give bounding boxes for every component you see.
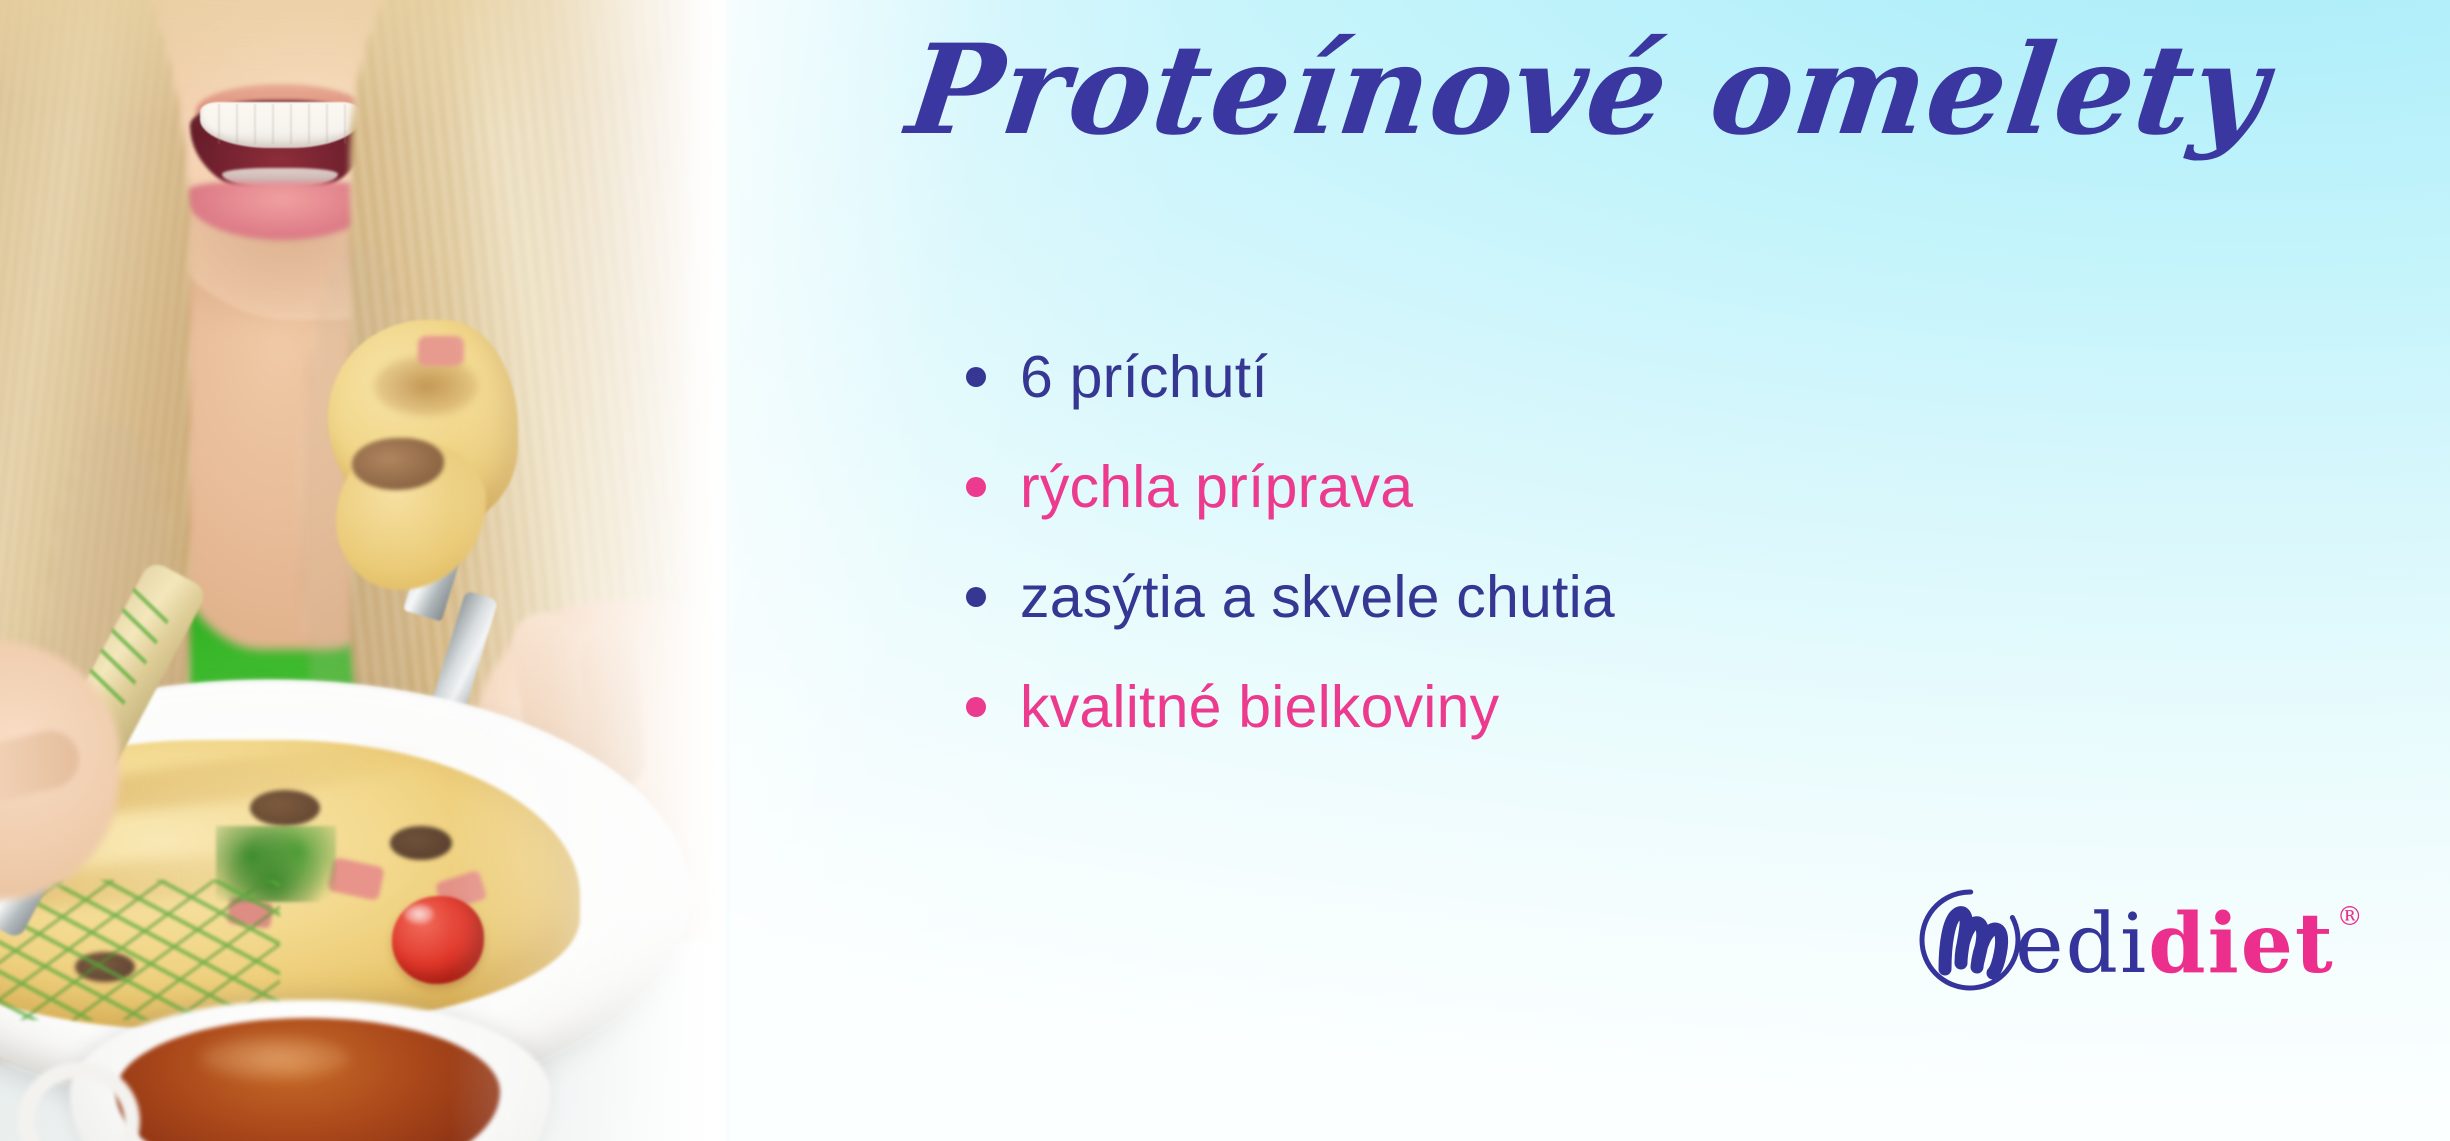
list-item-label: kvalitné bielkoviny bbox=[1020, 673, 1499, 741]
omelette-mushroom-1 bbox=[250, 790, 320, 826]
hero-photo-content bbox=[0, 0, 726, 1141]
brand-logo-edi: edi bbox=[2015, 897, 2148, 992]
list-item-label: zasýtia a skvele chutia bbox=[1020, 563, 1615, 631]
hero-photo bbox=[0, 0, 726, 1141]
registered-trademark-icon: ® bbox=[2337, 902, 2365, 932]
page-title: Proteínové omelety bbox=[717, 18, 2450, 163]
feature-list: 6 príchutí rýchla príprava zasýtia a skv… bbox=[966, 322, 1615, 762]
bullet-dot-icon bbox=[966, 367, 986, 387]
bullet-dot-icon bbox=[966, 697, 986, 717]
list-item-label: 6 príchutí bbox=[1020, 343, 1268, 411]
bullet-dot-icon bbox=[966, 477, 986, 497]
promo-banner: Proteínové omelety 6 príchutí rýchla prí… bbox=[0, 0, 2450, 1141]
bullet-dot-icon bbox=[966, 587, 986, 607]
brand-logo: edidiet® bbox=[1911, 880, 2363, 1000]
brand-logo-diet: diet bbox=[2148, 896, 2335, 992]
cherry-tomato-highlight bbox=[404, 904, 434, 924]
content-panel: Proteínové omelety 6 príchutí rýchla prí… bbox=[726, 0, 2450, 1141]
chive-sprinkles bbox=[0, 880, 280, 1020]
brand-logo-wordmark: edidiet® bbox=[2015, 903, 2363, 986]
list-item: zasýtia a skvele chutia bbox=[966, 542, 1615, 652]
list-item: rýchla príprava bbox=[966, 432, 1615, 542]
list-item: 6 príchutí bbox=[966, 322, 1615, 432]
list-item: kvalitné bielkoviny bbox=[966, 652, 1615, 762]
omelette-mushroom-2 bbox=[390, 826, 452, 860]
omelette-bite-ham bbox=[418, 336, 464, 366]
tea-highlight bbox=[200, 1036, 350, 1080]
list-item-label: rýchla príprava bbox=[1020, 453, 1413, 521]
medidiet-circle-m-icon bbox=[1911, 881, 2029, 999]
